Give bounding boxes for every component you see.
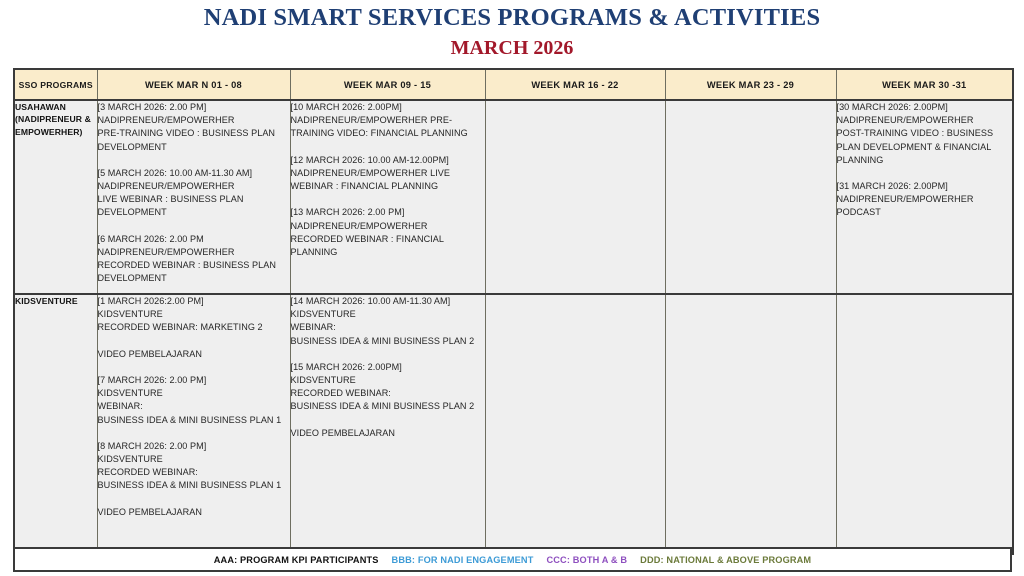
column-header-week-5: WEEK MAR 30 -31 bbox=[836, 69, 1013, 100]
cell-usahawan-week-4 bbox=[665, 100, 836, 294]
legend-item-ccc: CCC: BOTH A & B bbox=[546, 555, 627, 565]
column-header-week-2: WEEK MAR 09 - 15 bbox=[290, 69, 485, 100]
cell-text: [14 MARCH 2026: 10.00 AM-11.30 AM] KIDSV… bbox=[291, 295, 485, 440]
legend-item-bbb: BBB: FOR NADI ENGAGEMENT bbox=[392, 555, 534, 565]
programs-schedule-table: SSO PROGRAMS WEEK MAR N 01 - 08 WEEK MAR… bbox=[13, 68, 1014, 555]
cell-kidsventure-week-5 bbox=[836, 294, 1013, 554]
table-header-row: SSO PROGRAMS WEEK MAR N 01 - 08 WEEK MAR… bbox=[14, 69, 1013, 100]
column-header-week-1: WEEK MAR N 01 - 08 bbox=[97, 69, 290, 100]
legend-item-ddd: DDD: NATIONAL & ABOVE PROGRAM bbox=[640, 555, 811, 565]
legend-bar: AAA: PROGRAM KPI PARTICIPANTS BBB: FOR N… bbox=[13, 547, 1012, 572]
cell-usahawan-week-1: [3 MARCH 2026: 2.00 PM] NADIPRENEUR/EMPO… bbox=[97, 100, 290, 294]
row-label-usahawan: USAHAWAN (NADIPRENEUR & EMPOWERHER) bbox=[14, 100, 97, 294]
cell-usahawan-week-2: [10 MARCH 2026: 2.00PM] NADIPRENEUR/EMPO… bbox=[290, 100, 485, 294]
cell-text: [30 MARCH 2026: 2.00PM] NADIPRENEUR/EMPO… bbox=[837, 101, 1013, 220]
cell-kidsventure-week-4 bbox=[665, 294, 836, 554]
title-block: NADI SMART SERVICES PROGRAMS & ACTIVITIE… bbox=[0, 4, 1024, 60]
table-row: USAHAWAN (NADIPRENEUR & EMPOWERHER) [3 M… bbox=[14, 100, 1013, 294]
row-label-kidsventure: KIDSVENTURE bbox=[14, 294, 97, 554]
cell-usahawan-week-3 bbox=[485, 100, 665, 294]
cell-text: [3 MARCH 2026: 2.00 PM] NADIPRENEUR/EMPO… bbox=[98, 101, 290, 285]
cell-text: [1 MARCH 2026:2.00 PM] KIDSVENTURE RECOR… bbox=[98, 295, 290, 519]
calendar-page: NADI SMART SERVICES PROGRAMS & ACTIVITIE… bbox=[0, 0, 1024, 576]
legend-item-aaa: AAA: PROGRAM KPI PARTICIPANTS bbox=[214, 555, 379, 565]
column-header-week-3: WEEK MAR 16 - 22 bbox=[485, 69, 665, 100]
cell-usahawan-week-5: [30 MARCH 2026: 2.00PM] NADIPRENEUR/EMPO… bbox=[836, 100, 1013, 294]
page-subtitle: MARCH 2026 bbox=[0, 36, 1024, 60]
cell-kidsventure-week-3 bbox=[485, 294, 665, 554]
cell-kidsventure-week-1: [1 MARCH 2026:2.00 PM] KIDSVENTURE RECOR… bbox=[97, 294, 290, 554]
cell-text: [10 MARCH 2026: 2.00PM] NADIPRENEUR/EMPO… bbox=[291, 101, 485, 259]
legend-items: AAA: PROGRAM KPI PARTICIPANTS BBB: FOR N… bbox=[214, 555, 812, 565]
page-title: NADI SMART SERVICES PROGRAMS & ACTIVITIE… bbox=[0, 4, 1024, 32]
table-row: KIDSVENTURE [1 MARCH 2026:2.00 PM] KIDSV… bbox=[14, 294, 1013, 554]
column-header-week-4: WEEK MAR 23 - 29 bbox=[665, 69, 836, 100]
column-header-sso-programs: SSO PROGRAMS bbox=[14, 69, 97, 100]
cell-kidsventure-week-2: [14 MARCH 2026: 10.00 AM-11.30 AM] KIDSV… bbox=[290, 294, 485, 554]
